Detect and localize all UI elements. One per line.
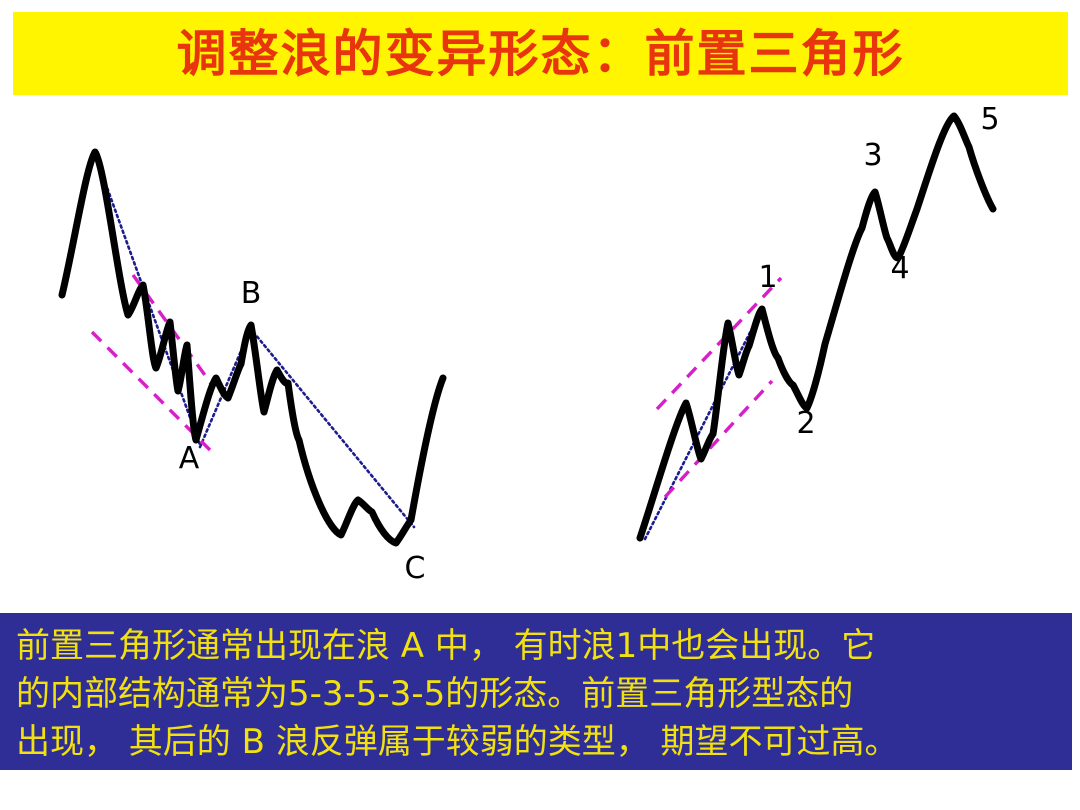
label-wave-1: 1	[758, 260, 777, 295]
left-price-path	[62, 152, 443, 543]
caption-line-3: 出现， 其后的 B 浪反弹属于较弱的类型， 期望不可过高。	[16, 718, 1062, 766]
right-panel-group: 1 2 3 4 5	[640, 102, 1000, 539]
right-price-path	[640, 116, 993, 538]
caption-line-1: 前置三角形通常出现在浪 A 中， 有时浪1中也会出现。它	[16, 622, 1062, 670]
elliott-wave-diagram: A B C 1 2 3 4 5	[0, 95, 1080, 613]
left-panel-group: A B C	[62, 152, 443, 586]
slide-root: 调整浪的变异形态：前置三角形 A B C	[0, 0, 1080, 810]
page-title: 调整浪的变异形态：前置三角形	[177, 29, 905, 79]
right-trendline-start-to-one	[645, 307, 763, 539]
label-wave-2: 2	[796, 406, 815, 441]
label-wave-4: 4	[890, 251, 909, 286]
label-wave-a: A	[179, 441, 200, 476]
wave-chart-area: A B C 1 2 3 4 5	[0, 95, 1080, 613]
title-banner: 调整浪的变异形态：前置三角形	[13, 12, 1068, 95]
label-wave-b: B	[241, 276, 262, 311]
caption-block: 前置三角形通常出现在浪 A 中， 有时浪1中也会出现。它 的内部结构通常为5-3…	[0, 613, 1072, 770]
label-wave-3: 3	[863, 138, 882, 173]
left-trendline-b-to-c	[250, 328, 414, 527]
label-wave-5: 5	[980, 102, 999, 137]
caption-line-2: 的内部结构通常为5-3-5-3-5的形态。前置三角形型态的	[16, 670, 1062, 718]
label-wave-c: C	[405, 551, 426, 586]
